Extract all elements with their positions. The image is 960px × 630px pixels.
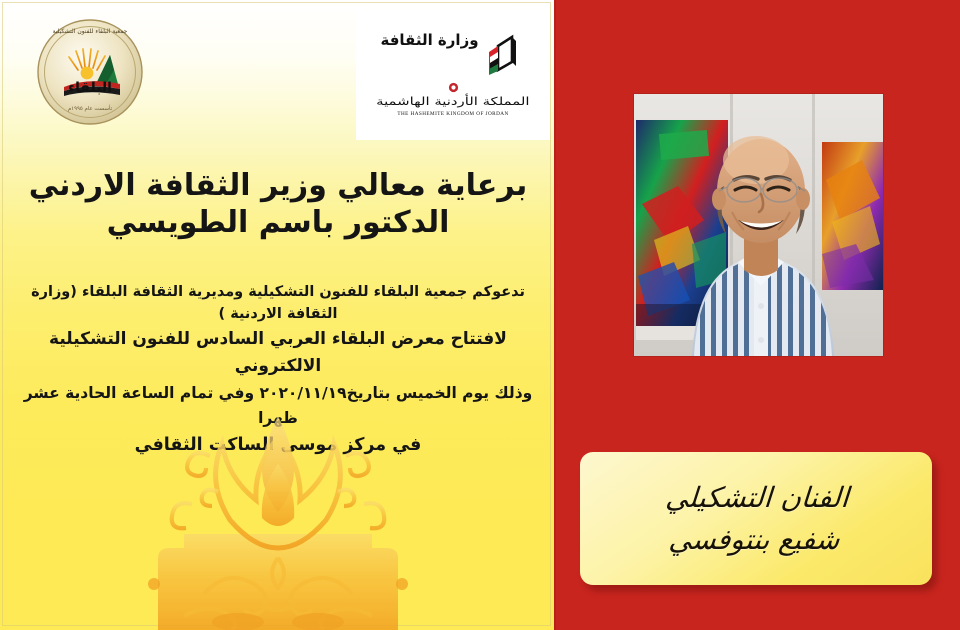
invitation-body: تدعوكم جمعية البلقاء للفنون التشكيلية وم…	[10, 282, 546, 460]
open-book-logo-icon	[482, 33, 526, 77]
artist-name-calligraphy: الفنان التشكيلي شفيع بنتوفسي	[662, 478, 851, 560]
body-line-2: لافتتاح معرض البلقاء العربي السادس للفنو…	[10, 326, 546, 381]
artist-portrait-photo	[634, 94, 883, 356]
headline-line-2: الدكتور باسم الطويسي	[14, 205, 542, 242]
ministry-of-culture-logo: وزارة الثقافة المملكة الأردنية الهاشمية …	[356, 10, 550, 140]
svg-text:تأسست عام ١٩٩٥م: تأسست عام ١٩٩٥م	[68, 104, 113, 112]
body-line-1: تدعوكم جمعية البلقاء للفنون التشكيلية وم…	[10, 282, 546, 326]
blqa-seal-logo-icon: جمعية البلقاء للفنون التشكيلية	[36, 18, 144, 126]
svg-text:جمعية البلقاء للفنون التشكيلية: جمعية البلقاء للفنون التشكيلية	[53, 28, 128, 35]
artist-name-card: الفنان التشكيلي شفيع بنتوفسي	[580, 452, 932, 585]
artist-photo-frame	[634, 94, 883, 356]
left-panel: جمعية البلقاء للفنون التشكيلية	[0, 0, 556, 630]
page-title: برعاية معالي وزير الثقافة الاردني الدكتو…	[14, 168, 542, 241]
kingdom-name-english: The Hashemite Kingdom of Jordan	[397, 111, 508, 117]
kingdom-name-arabic: المملكة الأردنية الهاشمية	[376, 95, 529, 108]
body-line-3: وذلك يوم الخميس بتاريخ٢٠٢٠/١١/١٩ وفي تما…	[10, 381, 546, 431]
artist-name-line: شفيع بنتوفسي	[662, 520, 848, 560]
ministry-name-arabic: وزارة الثقافة	[380, 33, 478, 48]
headline-line-1: برعاية معالي وزير الثقافة الاردني	[29, 168, 528, 203]
artist-title-line: الفنان التشكيلي	[664, 478, 850, 518]
poster-canvas: جمعية البلقاء للفنون التشكيلية	[0, 0, 960, 630]
rosette-icon	[447, 81, 460, 94]
svg-text:البلقاء: البلقاء	[68, 80, 112, 96]
body-line-4: في مركز موسى الساكت الثقافي	[10, 431, 546, 460]
